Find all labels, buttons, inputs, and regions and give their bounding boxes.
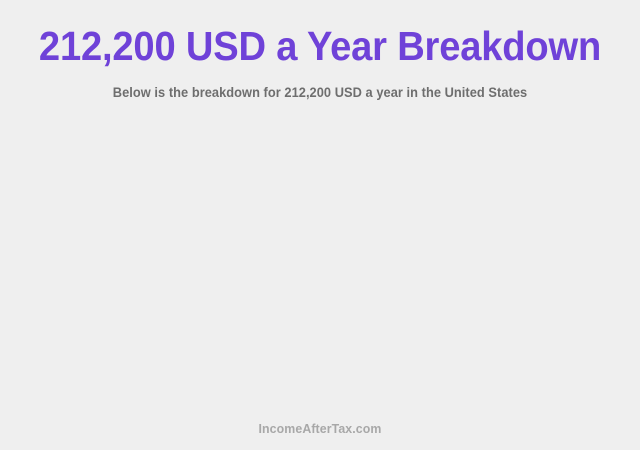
page-subtitle: Below is the breakdown for 212,200 USD a… (16, 84, 624, 101)
chart-empty-placeholder (0, 115, 640, 410)
site-watermark: IncomeAfterTax.com (16, 421, 624, 437)
page-title: 212,200 USD a Year Breakdown (22, 22, 617, 70)
infographic-canvas: 212,200 USD a Year Breakdown Below is th… (0, 0, 640, 450)
chart-plot-area (0, 115, 640, 410)
